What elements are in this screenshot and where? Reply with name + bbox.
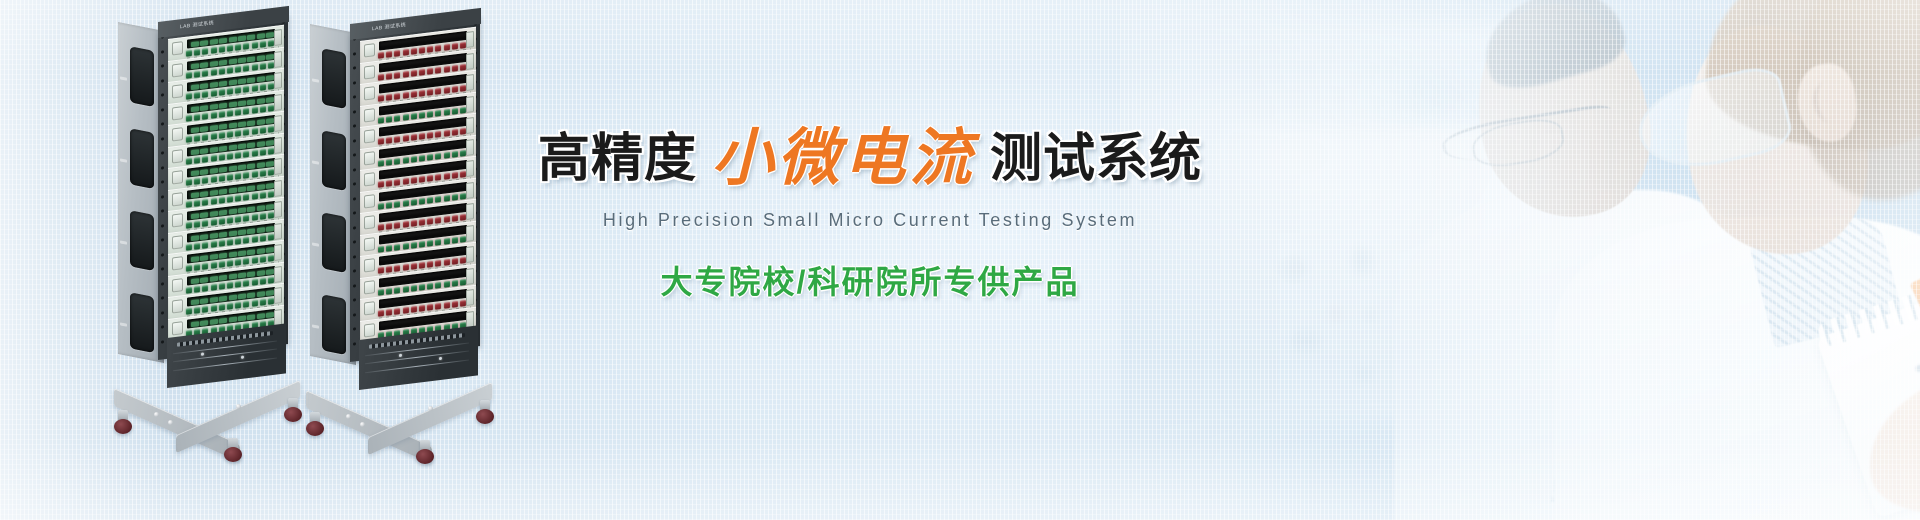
panel-indicator	[260, 191, 266, 198]
instrument-knob	[364, 151, 375, 165]
panel-indicator	[227, 303, 233, 310]
display-segment	[219, 231, 227, 237]
display-segment	[219, 124, 227, 130]
panel-indicator	[435, 88, 441, 95]
display-segment	[191, 278, 199, 284]
display-segment	[257, 76, 265, 82]
panel-indicator	[252, 171, 258, 178]
headline-suffix: 测试系统	[990, 130, 1202, 188]
panel-indicator	[444, 237, 450, 244]
display-segment	[257, 313, 265, 319]
rack-rail-hole	[161, 151, 164, 154]
panel-indicator	[427, 89, 433, 96]
panel-indicator	[427, 132, 433, 139]
panel-indicator	[419, 133, 425, 140]
display-segment	[191, 84, 199, 90]
panel-indicator	[243, 108, 249, 115]
panel-terminal	[274, 244, 282, 261]
equipment-racks: LAB 测试系统	[0, 0, 560, 520]
panel-indicator	[403, 178, 409, 185]
panel-indicator	[219, 175, 225, 182]
panel-indicator	[202, 199, 208, 206]
panel-indicator	[403, 92, 409, 99]
panel-terminal	[274, 201, 282, 218]
display-segment	[238, 272, 246, 278]
panel-indicator	[444, 44, 450, 51]
panel-indicator	[227, 282, 233, 289]
panel-indicator	[211, 112, 217, 119]
display-segment	[200, 148, 208, 154]
display-segment	[229, 230, 237, 236]
instrument-knob	[364, 280, 375, 294]
display-segment	[238, 186, 246, 192]
caster-wheel	[306, 412, 324, 436]
panel-indicator	[411, 285, 417, 292]
cable-node	[399, 354, 402, 357]
panel-indicator	[419, 90, 425, 97]
panel-indicator	[378, 203, 384, 210]
panel-indicator	[452, 86, 458, 93]
display-segment	[191, 170, 199, 176]
display-segment	[247, 292, 255, 298]
panel-indicator	[186, 115, 192, 122]
panel-indicator	[394, 287, 400, 294]
panel-indicator	[452, 129, 458, 136]
instrument-knob	[364, 237, 375, 251]
panel-indicator	[419, 241, 425, 248]
panel-indicator	[243, 301, 249, 308]
side-tick	[312, 160, 319, 164]
caster-tyre	[224, 447, 242, 462]
panel-indicator	[202, 156, 208, 163]
display-segment	[200, 255, 208, 261]
panel-indicator	[378, 310, 384, 317]
rack-rail-hole	[353, 327, 356, 330]
display-segment	[247, 228, 255, 234]
panel-indicator	[378, 224, 384, 231]
display-segment	[238, 293, 246, 299]
display-segment	[247, 185, 255, 191]
panel-terminal	[274, 287, 282, 304]
panel-indicator	[427, 304, 433, 311]
panel-indicator	[186, 287, 192, 294]
cable-node	[201, 352, 204, 355]
rack-rail-hole	[353, 313, 356, 316]
panel-indicator	[394, 244, 400, 251]
panel-terminal	[466, 289, 474, 306]
display-segment	[210, 297, 218, 303]
panel-indicator	[394, 72, 400, 79]
panel-indicator	[435, 67, 441, 74]
panel-indicator	[235, 281, 241, 288]
panel-indicator	[378, 52, 384, 59]
rack-rail-hole	[353, 139, 356, 142]
panel-indicator	[186, 201, 192, 208]
display-segment	[257, 227, 265, 233]
display-segment	[191, 213, 199, 219]
panel-indicator	[394, 115, 400, 122]
panel-indicator	[411, 113, 417, 120]
display-segment	[247, 206, 255, 212]
panel-indicator	[227, 217, 233, 224]
display-segment	[219, 188, 227, 194]
panel-indicator	[452, 193, 458, 200]
display-segment	[229, 187, 237, 193]
display-segment	[257, 162, 265, 168]
display-segment	[210, 232, 218, 238]
display-segment	[247, 120, 255, 126]
panel-indicator	[252, 192, 258, 199]
panel-indicator	[243, 172, 249, 179]
display-segment	[210, 103, 218, 109]
rack-rail-hole	[161, 296, 164, 299]
panel-indicator	[186, 244, 192, 251]
instrument-stack-mixed	[360, 41, 476, 341]
panel-indicator	[411, 220, 417, 227]
panel-indicator	[211, 241, 217, 248]
rack-rail-hole	[161, 224, 164, 227]
display-segment	[191, 299, 199, 305]
panel-indicator	[411, 263, 417, 270]
panel-indicator	[411, 91, 417, 98]
panel-indicator	[444, 194, 450, 201]
pedestal-bolt	[154, 412, 159, 417]
handle-cutout	[322, 130, 346, 191]
panel-indicator	[211, 305, 217, 312]
panel-indicator	[452, 301, 458, 308]
panel-indicator	[419, 305, 425, 312]
display-segment	[219, 167, 227, 173]
rack-rail-hole	[161, 166, 164, 169]
panel-indicator	[386, 73, 392, 80]
panel-indicator	[194, 157, 200, 164]
caster-wheel	[284, 398, 302, 422]
display-segment	[200, 234, 208, 240]
rack-rail-hole	[353, 168, 356, 171]
instrument-knob	[364, 65, 375, 79]
display-segment	[238, 229, 246, 235]
side-tick	[312, 242, 319, 246]
rack-rail-hole	[353, 182, 356, 185]
caster-tyre	[284, 407, 302, 422]
rack-rail-hole	[353, 81, 356, 84]
subtitle-chinese: 大专院校/科研院所专供产品	[520, 257, 1220, 303]
panel-indicator	[260, 41, 266, 48]
handle-cutout	[322, 48, 346, 109]
display-segment	[200, 191, 208, 197]
panel-terminal	[466, 246, 474, 263]
side-tick	[120, 322, 127, 326]
display-segment	[238, 57, 246, 63]
rack-rail-hole	[353, 226, 356, 229]
handle-cutout	[130, 128, 154, 189]
instrument-knob	[364, 43, 375, 57]
instrument-knob	[364, 129, 375, 143]
panel-indicator	[386, 245, 392, 252]
panel-indicator	[378, 95, 384, 102]
pedestal-bolt	[236, 404, 241, 409]
display-segment	[210, 82, 218, 88]
panel-indicator	[194, 71, 200, 78]
panel-indicator	[386, 137, 392, 144]
caster-tyre	[306, 421, 324, 436]
instrument-knob	[364, 172, 375, 186]
display-segment	[229, 295, 237, 301]
display-segment	[191, 192, 199, 198]
panel-indicator	[386, 266, 392, 273]
panel-indicator	[394, 179, 400, 186]
cable-node	[439, 357, 442, 360]
panel-terminal	[466, 53, 474, 70]
rack-rail-hole	[161, 79, 164, 82]
panel-indicator	[211, 219, 217, 226]
display-segment	[266, 118, 274, 124]
panel-indicator	[444, 151, 450, 158]
display-segment	[219, 274, 227, 280]
display-segment	[210, 125, 218, 131]
instrument-knob	[172, 41, 183, 55]
panel-indicator	[219, 68, 225, 75]
panel-terminal	[466, 31, 474, 48]
headline-accent: 小微电流	[711, 125, 975, 193]
display-segment	[238, 121, 246, 127]
display-segment	[219, 59, 227, 65]
display-segment	[191, 321, 199, 327]
display-segment	[266, 311, 274, 317]
rack-pedestal	[306, 376, 496, 468]
side-tick	[120, 240, 127, 244]
panel-indicator	[419, 47, 425, 54]
display-segment	[266, 75, 274, 81]
display-segment	[229, 144, 237, 150]
instrument-knob	[172, 321, 183, 335]
rack-rail-hole	[353, 255, 356, 258]
panel-indicator	[444, 302, 450, 309]
display-segment	[229, 37, 237, 43]
side-tick	[312, 78, 319, 82]
instrument-knob	[172, 256, 183, 270]
display-segment	[191, 41, 199, 47]
panel-indicator	[211, 133, 217, 140]
panel-indicator	[235, 216, 241, 223]
photo-highlight	[1120, 0, 1920, 520]
panel-indicator	[444, 216, 450, 223]
display-segment	[210, 254, 218, 260]
panel-indicator	[227, 131, 233, 138]
display-segment	[191, 127, 199, 133]
panel-indicator	[427, 240, 433, 247]
panel-indicator	[235, 173, 241, 180]
instrument-knob	[364, 86, 375, 100]
panel-indicator	[452, 107, 458, 114]
panel-indicator	[219, 197, 225, 204]
panel-indicator	[202, 48, 208, 55]
panel-indicator	[235, 302, 241, 309]
panel-indicator	[194, 286, 200, 293]
display-segment	[266, 247, 274, 253]
display-segment	[210, 60, 218, 66]
pedestal-bolt	[360, 422, 365, 427]
panel-indicator	[252, 85, 258, 92]
instrument-knob	[172, 213, 183, 227]
display-segment	[219, 296, 227, 302]
instrument-knob	[172, 149, 183, 163]
panel-indicator	[211, 176, 217, 183]
caster-wheel	[476, 400, 494, 424]
panel-indicator	[202, 177, 208, 184]
panel-indicator	[252, 106, 258, 113]
rack-rail-hole	[353, 66, 356, 69]
panel-indicator	[435, 217, 441, 224]
panel-indicator	[186, 158, 192, 165]
panel-indicator	[427, 218, 433, 225]
panel-indicator	[202, 306, 208, 313]
panel-indicator	[219, 46, 225, 53]
panel-terminal	[274, 51, 282, 68]
panel-indicator	[378, 117, 384, 124]
display-segment	[257, 98, 265, 104]
display-segment	[238, 35, 246, 41]
display-segment	[247, 77, 255, 83]
display-segment	[210, 146, 218, 152]
panel-indicator	[452, 150, 458, 157]
caster-tyre	[416, 449, 434, 464]
side-tick	[120, 158, 127, 162]
display-segment	[210, 211, 218, 217]
panel-indicator	[186, 136, 192, 143]
panel-indicator	[227, 153, 233, 160]
display-segment	[219, 317, 227, 323]
panel-indicator	[386, 180, 392, 187]
panel-indicator	[378, 181, 384, 188]
panel-indicator	[444, 65, 450, 72]
panel-indicator	[186, 50, 192, 57]
display-segment	[229, 123, 237, 129]
panel-indicator	[235, 195, 241, 202]
rack-rail-hole	[161, 209, 164, 212]
panel-terminal	[274, 94, 282, 111]
panel-indicator	[227, 88, 233, 95]
panel-indicator	[243, 280, 249, 287]
product-banner: LAB 测试系统	[0, 0, 1920, 520]
panel-terminal	[466, 268, 474, 285]
display-segment	[266, 161, 274, 167]
panel-indicator	[444, 130, 450, 137]
display-segment	[191, 63, 199, 69]
panel-indicator	[452, 172, 458, 179]
panel-indicator	[394, 136, 400, 143]
rack-rail-hole	[353, 153, 356, 156]
panel-indicator	[403, 307, 409, 314]
display-segment	[257, 205, 265, 211]
instrument-knob	[364, 194, 375, 208]
handle-cutout	[130, 46, 154, 107]
display-segment	[238, 207, 246, 213]
panel-indicator	[194, 135, 200, 142]
panel-terminal	[466, 160, 474, 177]
display-segment	[200, 126, 208, 132]
panel-indicator	[227, 196, 233, 203]
instrument-knob	[364, 323, 375, 337]
panel-indicator	[419, 262, 425, 269]
instrument-knob	[364, 301, 375, 315]
panel-indicator	[219, 154, 225, 161]
panel-indicator	[435, 131, 441, 138]
panel-indicator	[403, 114, 409, 121]
panel-indicator	[444, 259, 450, 266]
panel-indicator	[227, 110, 233, 117]
panel-indicator	[386, 51, 392, 58]
scientists-photo	[1120, 0, 1920, 520]
rack-rail-hole	[353, 52, 356, 55]
panel-indicator	[252, 300, 258, 307]
panel-indicator	[227, 239, 233, 246]
display-segment	[238, 164, 246, 170]
rack-rail-hole	[161, 122, 164, 125]
panel-indicator	[186, 72, 192, 79]
display-segment	[229, 252, 237, 258]
instrument-knob	[172, 127, 183, 141]
panel-indicator	[403, 221, 409, 228]
display-segment	[210, 189, 218, 195]
panel-indicator	[427, 46, 433, 53]
handle-cutout	[130, 210, 154, 271]
panel-indicator	[260, 256, 266, 263]
rack-rail-hole	[161, 325, 164, 328]
panel-indicator	[452, 64, 458, 71]
panel-indicator	[235, 130, 241, 137]
display-segment	[266, 268, 274, 274]
panel-indicator	[419, 219, 425, 226]
panel-indicator	[235, 238, 241, 245]
pedestal-bolt	[428, 406, 433, 411]
instrument-knob	[172, 192, 183, 206]
display-segment	[266, 53, 274, 59]
display-segment	[266, 225, 274, 231]
panel-indicator	[411, 48, 417, 55]
panel-indicator	[235, 66, 241, 73]
display-segment	[229, 101, 237, 107]
display-segment	[238, 100, 246, 106]
panel-indicator	[427, 175, 433, 182]
display-segment	[247, 314, 255, 320]
cable-node	[241, 356, 244, 359]
panel-indicator	[427, 283, 433, 290]
display-segment	[191, 235, 199, 241]
rack-rail-hole	[161, 267, 164, 270]
panel-indicator	[186, 93, 192, 100]
display-segment	[247, 34, 255, 40]
display-segment	[247, 271, 255, 277]
panel-indicator	[186, 179, 192, 186]
panel-indicator	[235, 152, 241, 159]
panel-terminal	[274, 72, 282, 89]
rack-rail-hole	[161, 93, 164, 96]
panel-terminal	[274, 180, 282, 197]
panel-indicator	[219, 304, 225, 311]
display-segment	[257, 119, 265, 125]
panel-indicator	[202, 285, 208, 292]
rack-rail-hole	[161, 50, 164, 53]
pedestal-bolt	[168, 420, 173, 425]
instrument-stack-green	[168, 39, 284, 339]
display-segment	[210, 318, 218, 324]
panel-indicator	[260, 62, 266, 69]
rack-rail-hole	[353, 124, 356, 127]
panel-indicator	[219, 111, 225, 118]
display-segment	[191, 256, 199, 262]
panel-indicator	[211, 155, 217, 162]
